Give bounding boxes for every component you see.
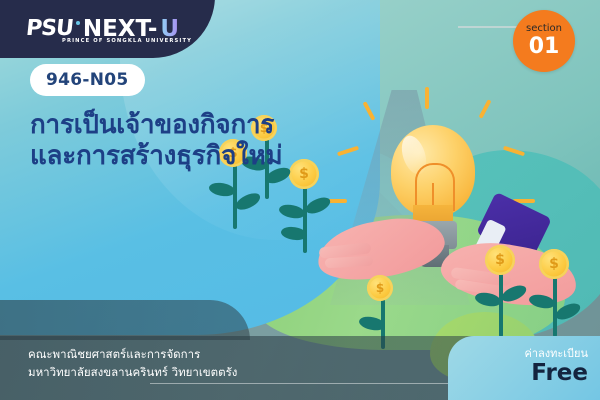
badge-divider-line: [458, 26, 520, 28]
course-title-line1: การเป็นเจ้าของกิจการ: [30, 110, 274, 140]
coin-icon: $: [485, 245, 515, 275]
registration-fee-panel: ค่าลงทะเบียน Free: [448, 336, 600, 400]
lightbulb-filament: [415, 163, 455, 211]
footer-curve: [0, 300, 250, 340]
faculty-line2: มหาวิทยาลัยสงขลานครินทร์ วิทยาเขตตรัง: [28, 364, 237, 382]
light-ray: [503, 146, 525, 157]
section-badge: section 01: [513, 10, 575, 72]
faculty-info: คณะพาณิชยศาสตร์และการจัดการ มหาวิทยาลัยส…: [28, 346, 237, 382]
section-number: 01: [529, 36, 560, 58]
section-label: section: [526, 24, 562, 34]
logo-dot-icon: [76, 21, 80, 25]
faculty-line1: คณะพาณิชยศาสตร์และการจัดการ: [28, 346, 237, 364]
course-code-pill: 946-N05: [30, 64, 145, 96]
footer-divider-line: [150, 383, 450, 384]
light-ray: [479, 99, 492, 119]
course-title-line2: และการสร้างธุรกิจใหม่: [30, 141, 360, 172]
logo-subtitle: PRINCE OF SONGKLA UNIVERSITY: [62, 38, 192, 44]
light-ray: [425, 87, 429, 109]
course-title: การเป็นเจ้าของกิจการ และการสร้างธุรกิจให…: [30, 110, 360, 171]
coin-icon: $: [367, 275, 393, 301]
coin-icon: $: [539, 249, 569, 279]
course-banner-card: $ $ $ $ $ $: [0, 0, 600, 400]
fee-value: Free: [448, 360, 588, 386]
light-ray: [363, 101, 376, 121]
